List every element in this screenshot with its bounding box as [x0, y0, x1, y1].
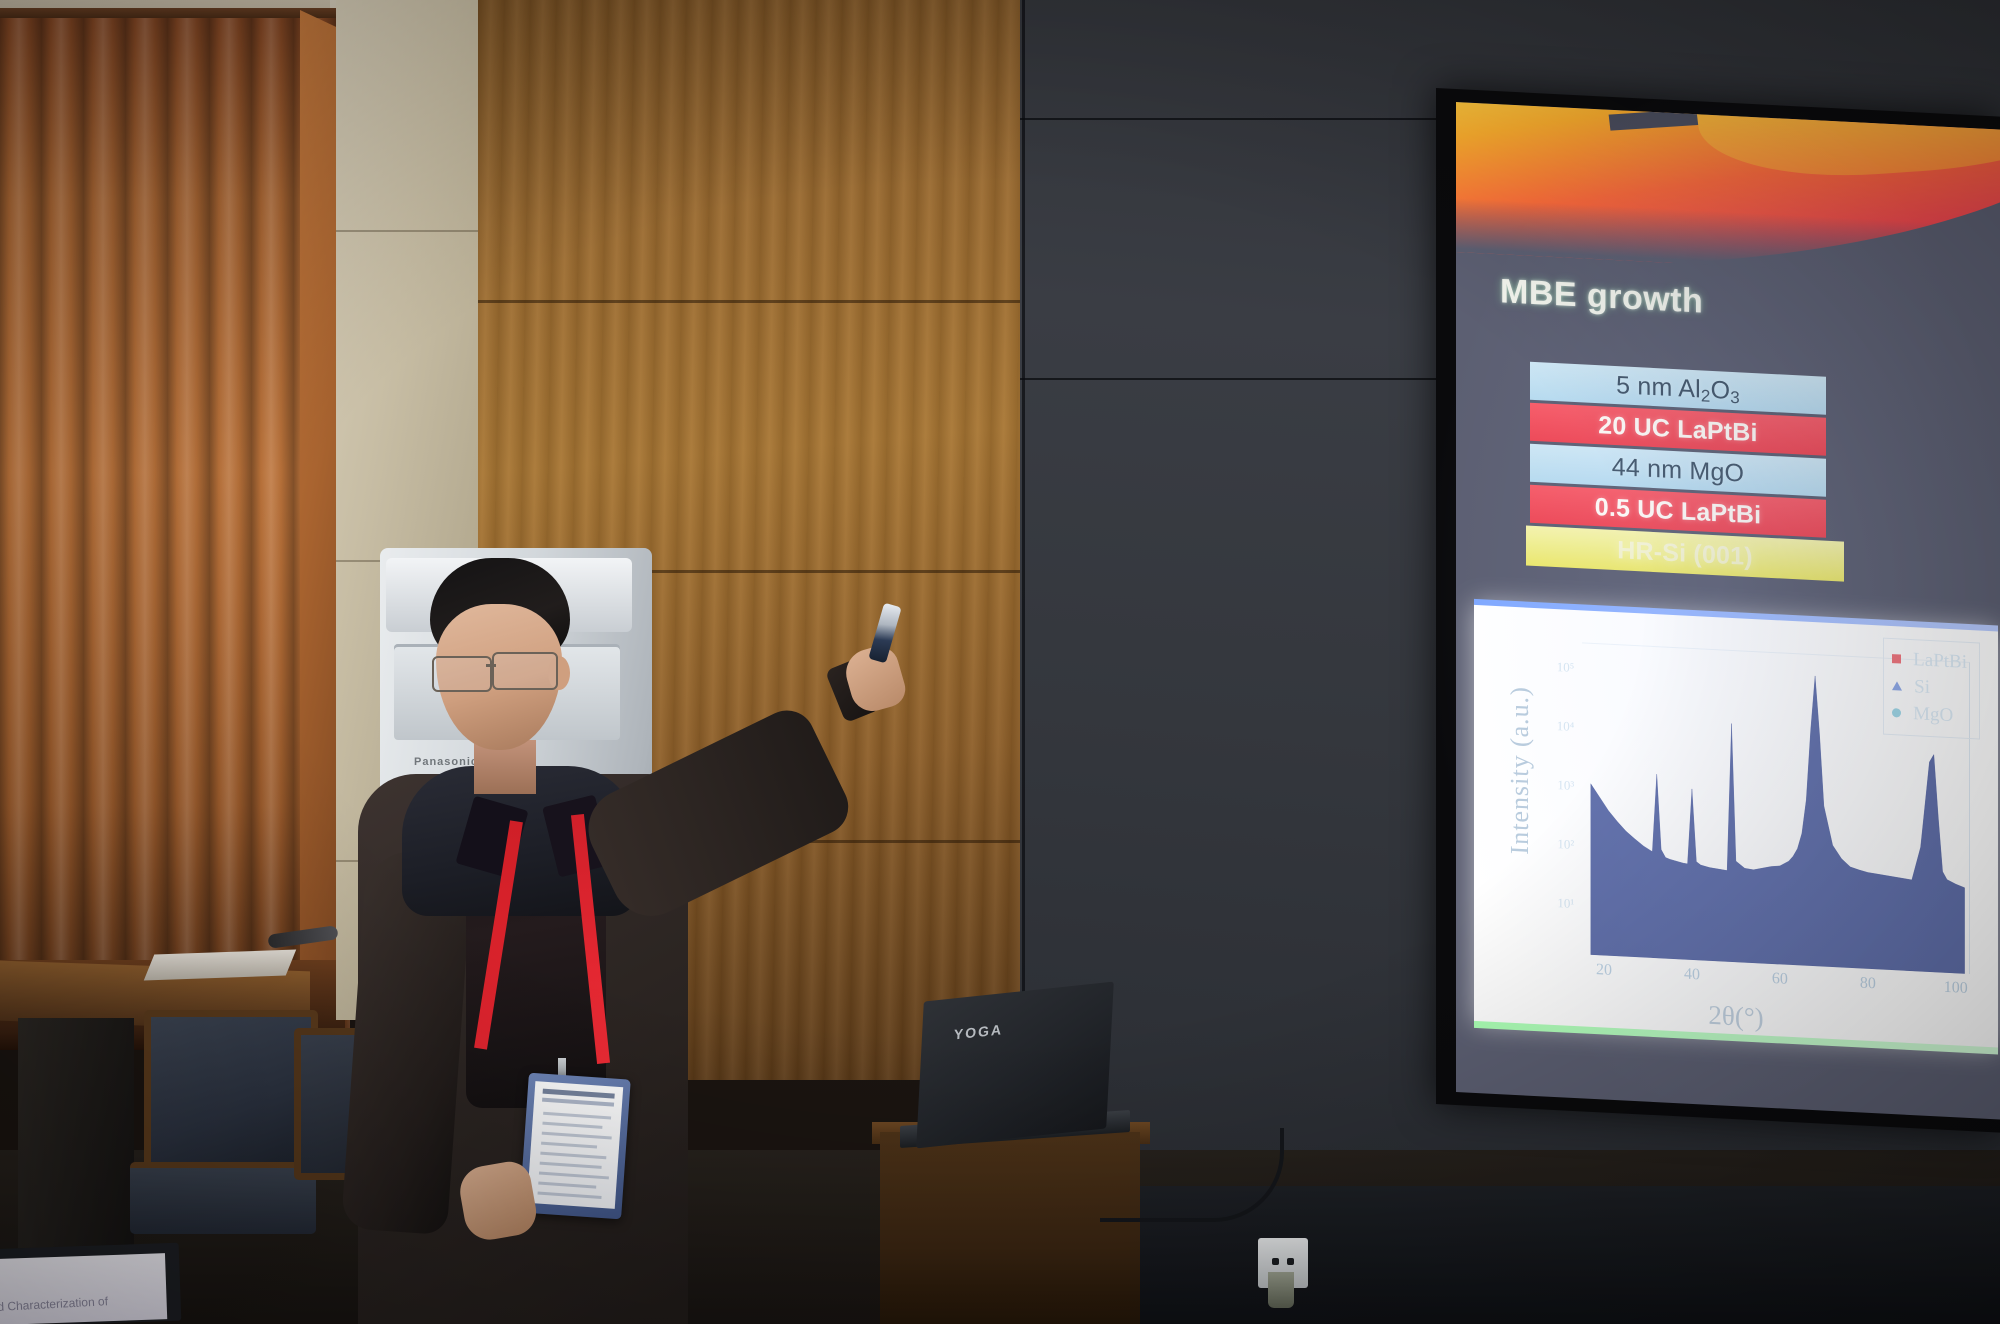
chart-legend: LaPtBi Si MgO [1883, 638, 1980, 740]
chart-x-tick: 20 [1596, 961, 1612, 980]
chart-y-tick: 10¹ [1557, 895, 1574, 912]
chart-y-tick: 10⁴ [1557, 718, 1575, 735]
chart-x-tick: 100 [1944, 979, 1968, 998]
legend-marker-triangle-icon [1892, 681, 1902, 691]
stack-layer-al2o3-sub2: 3 [1730, 388, 1740, 407]
laptop-lid: YOGA [916, 982, 1114, 1149]
legend-label-laptbi: LaPtBi [1913, 649, 1967, 674]
foreground-monitor-text: nd Characterization of [0, 1294, 108, 1314]
legend-marker-square-icon [1892, 654, 1901, 663]
legend-item-mgo: MgO [1892, 699, 1967, 730]
stack-layer-al2o3-sub1: 2 [1701, 386, 1711, 405]
foreground-monitor: nd Characterization of [0, 1243, 181, 1324]
eyeglasses-right-lens [492, 652, 558, 690]
laptop-brand-logo: YOGA [954, 1021, 1004, 1042]
foreground-monitor-screen: nd Characterization of [0, 1253, 167, 1324]
layer-stack-diagram: 5 nm Al2O3 20 UC LaPtBi 44 nm MgO 0.5 UC… [1530, 362, 1826, 584]
presentation-room-photo: MBE growth 5 nm Al2O3 20 UC LaPtBi 44 nm… [0, 0, 2000, 1324]
legend-item-si: Si [1892, 672, 1967, 703]
front-table-base [18, 1018, 134, 1248]
stack-layer-al2o3-mid: O [1711, 376, 1731, 405]
eyeglasses-bridge [486, 664, 496, 667]
stack-layer-al2o3-label: 5 nm Al [1616, 371, 1701, 403]
stack-layer-substrate-label: HR-Si (001) [1617, 536, 1753, 571]
projection-screen: MBE growth 5 nm Al2O3 20 UC LaPtBi 44 nm… [1456, 102, 2000, 1120]
badge-subheader-line [542, 1098, 614, 1107]
chart-y-tick: 10³ [1557, 777, 1574, 794]
legend-label-si: Si [1914, 676, 1930, 699]
slide-banner [1456, 102, 2000, 280]
legend-label-mgo: MgO [1913, 703, 1953, 727]
chart-y-tick: 10² [1557, 836, 1574, 853]
chart-y-axis-label: Intensity (a.u.) [1505, 659, 1535, 881]
papers-on-table [144, 950, 296, 981]
chart-x-tick: 60 [1772, 970, 1788, 989]
legend-item-laptbi: LaPtBi [1892, 645, 1967, 676]
chart-top-edge-glow [1474, 599, 1998, 632]
xrd-chart-panel: Intensity (a.u.) 2θ(°) 10⁵10⁴10³10²10¹ 2… [1474, 603, 1998, 1050]
presenter [408, 552, 868, 1324]
legend-marker-circle-icon [1892, 708, 1901, 717]
chart-x-tick: 80 [1860, 975, 1876, 994]
slide-title: MBE growth [1500, 272, 1703, 321]
badge-card [527, 1081, 623, 1209]
conference-badge [519, 1073, 631, 1220]
chart-y-tick: 10⁵ [1557, 659, 1575, 676]
eyeglasses-left-lens [432, 656, 492, 692]
presenter-right-arm [575, 701, 858, 929]
badge-header-line [543, 1089, 615, 1099]
power-plug [1268, 1272, 1294, 1308]
window-curtain [0, 18, 350, 1028]
chart-x-tick: 40 [1684, 966, 1700, 985]
